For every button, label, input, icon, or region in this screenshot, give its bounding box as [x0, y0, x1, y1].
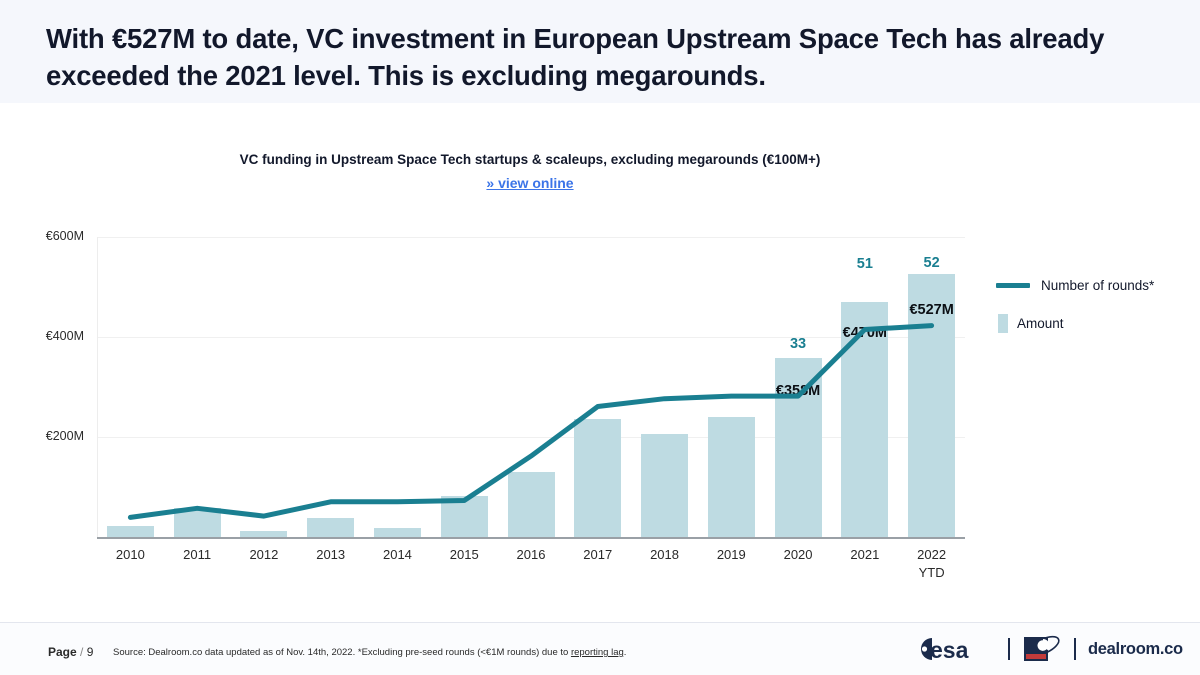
- esa-bic-logo-icon: [1022, 634, 1062, 664]
- y-axis-tick: €200M: [4, 429, 84, 443]
- legend-item-amount[interactable]: Amount: [996, 314, 1196, 333]
- y-axis-tick: €600M: [4, 229, 84, 243]
- data-label-rounds: 52: [882, 255, 982, 271]
- bar[interactable]: [641, 434, 688, 538]
- page-title: With €527M to date, VC investment in Eur…: [46, 21, 1166, 94]
- y-axis-tick: €400M: [4, 329, 84, 343]
- legend-label-rounds: Number of rounds*: [1041, 278, 1154, 293]
- legend-label-amount: Amount: [1017, 316, 1064, 331]
- bar[interactable]: [240, 531, 287, 537]
- view-online-link[interactable]: » view online: [100, 175, 960, 191]
- chart-title: VC funding in Upstream Space Tech startu…: [100, 152, 960, 167]
- esa-logo-icon: esa: [918, 635, 996, 663]
- logo-divider-2: [1074, 638, 1076, 660]
- bar[interactable]: [374, 528, 421, 537]
- line-swatch-icon: [996, 283, 1030, 288]
- legend-item-rounds[interactable]: Number of rounds*: [996, 278, 1196, 293]
- page-indicator: Page / 9: [48, 645, 93, 659]
- dealroom-logo: dealroom.co: [1088, 640, 1183, 659]
- gridline: [97, 437, 965, 438]
- page-word: Page: [48, 645, 77, 659]
- source-text: Source: Dealroom.co data updated as of N…: [113, 647, 571, 658]
- chart-legend: Number of rounds* Amount: [996, 278, 1196, 354]
- page-number: 9: [87, 645, 94, 659]
- gridline: [97, 237, 965, 238]
- bar-swatch-icon: [998, 314, 1008, 333]
- bar[interactable]: [508, 472, 555, 537]
- footer-logos: esa dealroom.co: [918, 630, 1183, 668]
- slide: With €527M to date, VC investment in Eur…: [0, 0, 1200, 675]
- bar[interactable]: [307, 518, 354, 537]
- reporting-lag-link[interactable]: reporting lag: [571, 647, 624, 658]
- logo-divider-1: [1008, 638, 1010, 660]
- data-label-amount: €470M: [815, 325, 915, 341]
- bar[interactable]: [574, 419, 621, 538]
- source-suffix: .: [624, 647, 627, 658]
- page-separator: /: [80, 645, 83, 659]
- svg-text:esa: esa: [930, 637, 969, 663]
- source-note: Source: Dealroom.co data updated as of N…: [113, 647, 626, 658]
- bar[interactable]: [441, 496, 488, 537]
- bar[interactable]: [708, 417, 755, 537]
- y-axis-line: [97, 237, 98, 537]
- x-axis-line: [97, 537, 965, 539]
- data-label-amount: €527M: [882, 302, 982, 318]
- bar[interactable]: [174, 508, 221, 537]
- data-label-amount: €358M: [748, 383, 848, 399]
- x-axis-tick: 2022YTD: [887, 546, 977, 581]
- bar[interactable]: [107, 526, 154, 537]
